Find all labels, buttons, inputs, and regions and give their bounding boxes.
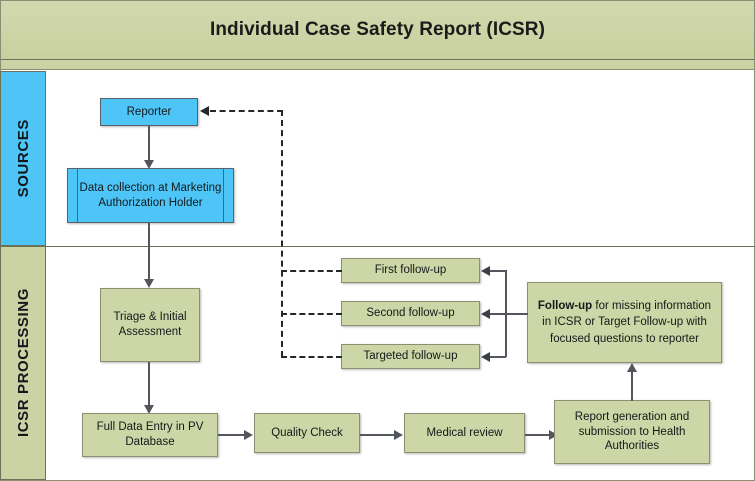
connector-medical-review-to-report-generation — [525, 434, 551, 436]
connector-spine-to-first-follow-up — [489, 270, 506, 272]
node-reporter[interactable]: Reporter — [100, 98, 198, 126]
node-triage-label: Triage & Initial Assessment — [106, 310, 194, 339]
node-data-collection-label: Data collection at Marketing Authorizati… — [73, 181, 228, 210]
arrowhead-second-follow-up-in — [481, 309, 490, 319]
lane-label-sources-text: SOURCES — [15, 119, 32, 197]
dashed-targeted-follow-up-to-trunk — [281, 356, 342, 358]
connector-spine-to-targeted-follow-up — [489, 356, 506, 358]
lane-divider — [46, 246, 755, 247]
arrowhead-follow-up-note-in — [627, 363, 637, 372]
dashed-feedback-trunk — [281, 110, 283, 357]
connector-spine-to-second-follow-up — [489, 313, 506, 315]
node-second-follow-up-label: Second follow-up — [366, 306, 454, 321]
node-first-follow-up[interactable]: First follow-up — [341, 258, 480, 283]
node-full-data-entry[interactable]: Full Data Entry in PV Database — [82, 413, 218, 457]
node-triage-initial-assessment[interactable]: Triage & Initial Assessment — [100, 288, 200, 362]
node-report-generation-label: Report generation and submission to Heal… — [560, 410, 704, 454]
node-first-follow-up-label: First follow-up — [375, 263, 447, 278]
arrowhead-reporter-feedback-in — [200, 106, 209, 116]
page-title: Individual Case Safety Report (ICSR) — [210, 19, 545, 41]
connector-quality-check-to-medical-review — [360, 434, 396, 436]
node-data-collection[interactable]: Data collection at Marketing Authorizati… — [67, 168, 234, 223]
node-full-data-entry-label: Full Data Entry in PV Database — [88, 420, 212, 449]
arrowhead-first-follow-up-in — [481, 266, 490, 276]
node-second-follow-up[interactable]: Second follow-up — [341, 301, 480, 326]
node-quality-check-label: Quality Check — [271, 426, 343, 441]
lane-label-processing: ICSR PROCESSING — [0, 246, 46, 480]
node-targeted-follow-up[interactable]: Targeted follow-up — [341, 344, 480, 369]
dashed-feedback-to-reporter — [210, 110, 283, 112]
arrowhead-quality-check-in — [244, 430, 253, 440]
lane-label-processing-text: ICSR PROCESSING — [15, 288, 32, 437]
node-report-generation[interactable]: Report generation and submission to Heal… — [554, 400, 710, 464]
title-underbar — [0, 59, 755, 70]
node-follow-up-note[interactable]: Follow-up for missing information in ICS… — [527, 282, 722, 363]
connector-follow-up-note-trunk — [505, 313, 528, 315]
icsr-flowchart-diagram: Individual Case Safety Report (ICSR) SOU… — [0, 0, 755, 481]
arrowhead-triage-in — [144, 279, 154, 288]
dashed-second-follow-up-to-trunk — [281, 313, 342, 315]
lane-label-sources: SOURCES — [0, 71, 46, 246]
arrowhead-targeted-follow-up-in — [481, 352, 490, 362]
node-follow-up-note-bold-lead: Follow-up — [538, 300, 592, 312]
node-medical-review-label: Medical review — [426, 426, 502, 441]
node-targeted-follow-up-label: Targeted follow-up — [364, 349, 458, 364]
node-follow-up-note-label: Follow-up for missing information in ICS… — [533, 298, 716, 347]
connector-data-collection-to-triage — [148, 223, 150, 280]
connector-report-generation-to-follow-up-note — [631, 372, 633, 401]
node-medical-review[interactable]: Medical review — [404, 413, 525, 453]
connector-reporter-to-data-collection — [148, 126, 150, 161]
connector-full-data-entry-to-quality-check — [218, 434, 246, 436]
diagram-title-bar: Individual Case Safety Report (ICSR) — [0, 0, 755, 59]
arrowhead-medical-review-in — [394, 430, 403, 440]
node-quality-check[interactable]: Quality Check — [254, 413, 360, 453]
node-reporter-label: Reporter — [127, 105, 172, 120]
dashed-first-follow-up-to-trunk — [281, 270, 342, 272]
connector-triage-to-full-data-entry — [148, 362, 150, 406]
